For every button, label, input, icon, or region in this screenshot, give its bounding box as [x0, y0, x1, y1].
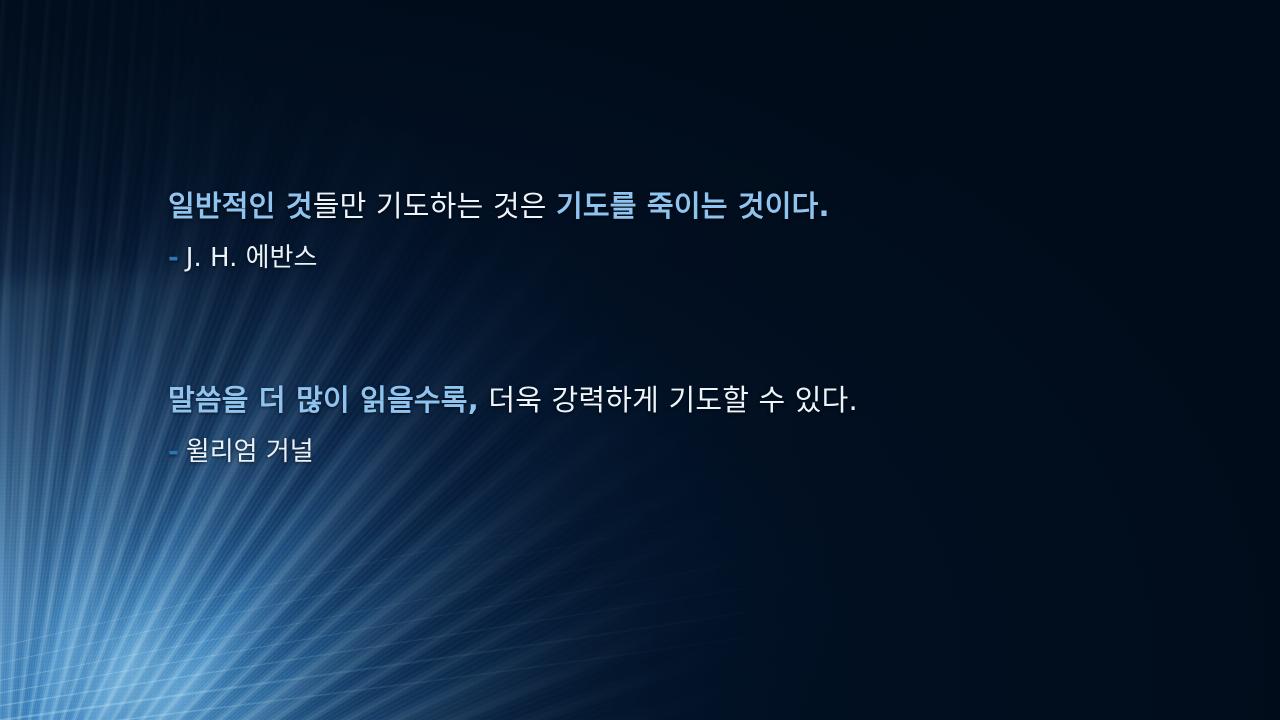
quote-2-segment-1: 말씀을 더 많이 읽을수록,: [168, 383, 479, 417]
presentation-slide: 일반적인 것들만 기도하는 것은 기도를 죽이는 것이다. -J. H. 에반스…: [0, 0, 1280, 720]
quote-text-1: 일반적인 것들만 기도하는 것은 기도를 죽이는 것이다.: [168, 186, 1128, 227]
quote-text-2: 말씀을 더 많이 읽을수록, 더욱 강력하게 기도할 수 있다.: [168, 380, 1128, 421]
attribution-dash-2: -: [168, 437, 179, 467]
quote-1-segment-1: 일반적인 것: [168, 189, 313, 223]
quote-2-segment-2: 더욱 강력하게 기도할 수 있다.: [479, 383, 858, 417]
quote-1-segment-2: 들만 기도하는 것은: [313, 189, 556, 223]
attribution-name-2: 윌리엄 거널: [186, 437, 314, 467]
attribution-name-1: J. H. 에반스: [186, 243, 318, 273]
quote-1-segment-3: 기도를 죽이는 것이다.: [556, 189, 830, 223]
attribution-dash-1: -: [168, 243, 179, 273]
quote-block-2: 말씀을 더 많이 읽을수록, 더욱 강력하게 기도할 수 있다. -윌리엄 거널: [168, 380, 1128, 470]
quote-attribution-1: -J. H. 에반스: [168, 241, 1128, 276]
slide-content: 일반적인 것들만 기도하는 것은 기도를 죽이는 것이다. -J. H. 에반스…: [168, 186, 1128, 471]
quote-block-1: 일반적인 것들만 기도하는 것은 기도를 죽이는 것이다. -J. H. 에반스: [168, 186, 1128, 276]
quote-attribution-2: -윌리엄 거널: [168, 435, 1128, 470]
